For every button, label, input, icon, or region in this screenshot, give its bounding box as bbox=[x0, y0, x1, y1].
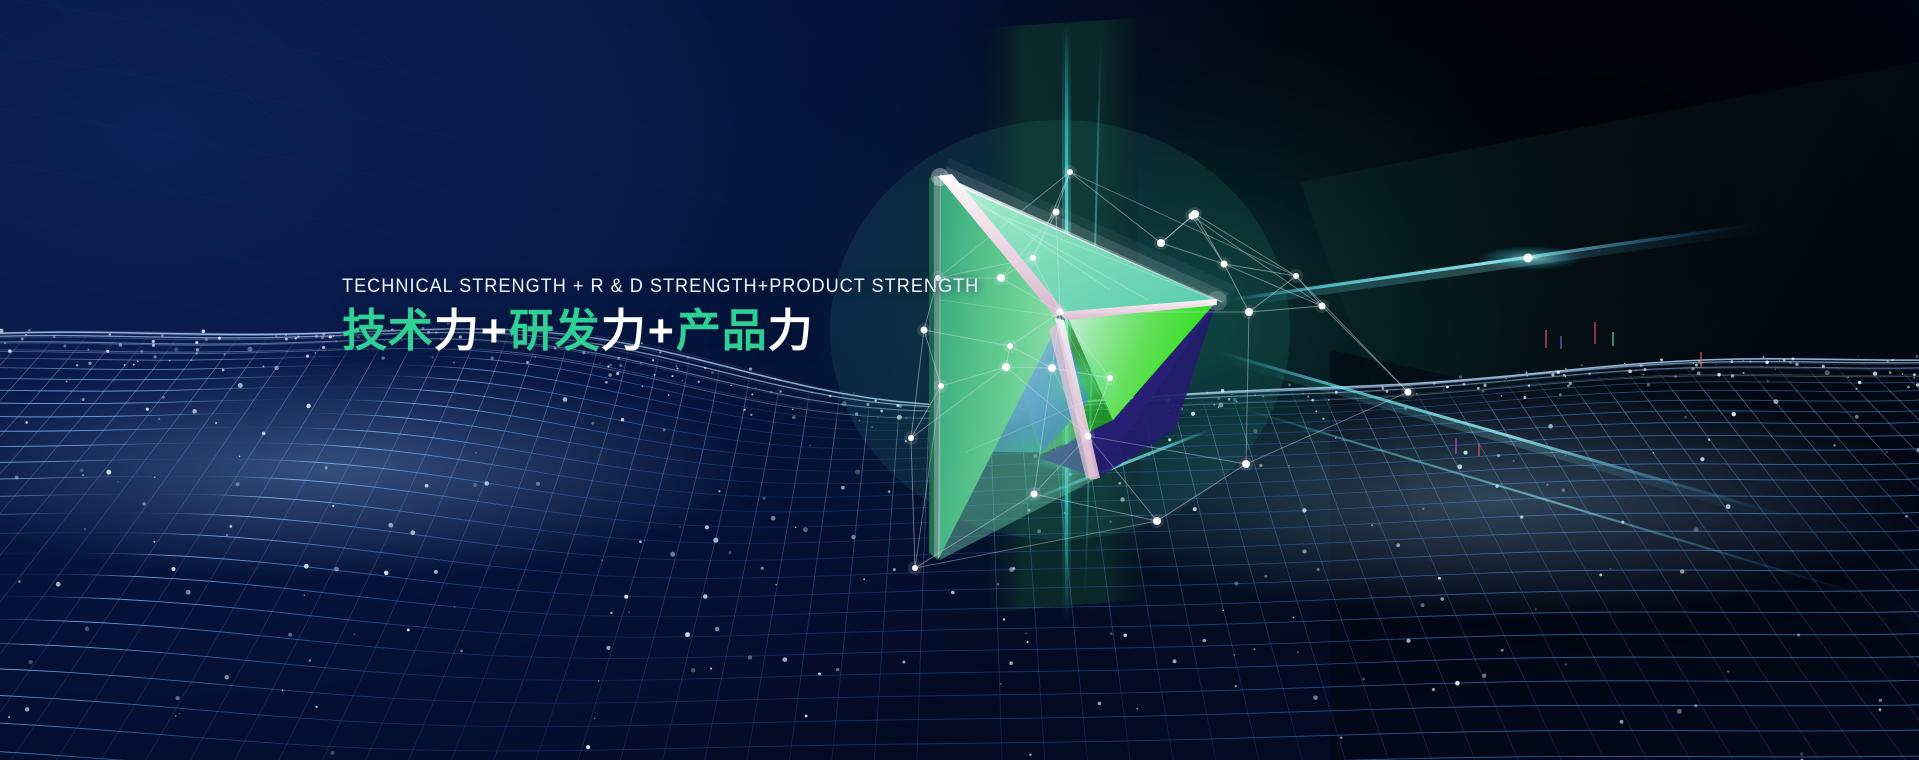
constellation-node bbox=[1319, 303, 1326, 310]
headline-cn-segment-6: 产品 bbox=[676, 305, 768, 356]
constellation-line bbox=[1192, 216, 1224, 264]
headline-cn-segment-7: 力 bbox=[768, 305, 814, 356]
constellation-line bbox=[1034, 368, 1052, 494]
constellation-node bbox=[1157, 239, 1165, 247]
constellation-node bbox=[1067, 169, 1073, 175]
constellation-line bbox=[915, 386, 941, 568]
constellation-line bbox=[911, 367, 1006, 438]
constellation-line bbox=[1249, 306, 1322, 312]
constellation-line bbox=[1249, 276, 1296, 312]
constellation-node bbox=[1189, 213, 1196, 220]
constellation-line bbox=[1246, 392, 1408, 464]
headline-cn-segment-1: 力 bbox=[434, 305, 480, 356]
constellation-line bbox=[1006, 367, 1088, 436]
constellation-line bbox=[1161, 243, 1224, 264]
headline-cn-segment-3: 研发 bbox=[509, 305, 601, 356]
headline-cn-segment-5: + bbox=[648, 305, 675, 356]
hero-banner: TECHNICAL STRENGTH + R & D STRENGTH+PROD… bbox=[0, 0, 1919, 760]
constellation-line bbox=[1088, 436, 1246, 464]
headline-cn-segment-2: + bbox=[481, 305, 508, 356]
headline-english: TECHNICAL STRENGTH + R & D STRENGTH+PROD… bbox=[342, 276, 1049, 297]
constellation-node bbox=[1221, 261, 1228, 268]
constellation-line bbox=[941, 367, 1006, 386]
constellation-node bbox=[1242, 460, 1250, 468]
constellation-line bbox=[915, 521, 1157, 568]
constellation-node bbox=[938, 383, 944, 389]
constellation-line bbox=[1034, 436, 1088, 494]
constellation-line bbox=[1246, 312, 1249, 464]
headline-cn-segment-0: 技术 bbox=[342, 305, 434, 356]
constellation-node bbox=[912, 565, 918, 571]
constellation-wireframe-front bbox=[0, 0, 1919, 760]
constellation-node bbox=[1245, 308, 1253, 316]
constellation-line bbox=[1192, 216, 1322, 306]
constellation-node bbox=[1293, 273, 1299, 279]
constellation-line bbox=[1157, 464, 1246, 521]
headline-chinese: 技术力+研发力+产品力 bbox=[342, 306, 1102, 356]
constellation-line bbox=[911, 438, 915, 568]
constellation-line bbox=[1088, 378, 1110, 436]
constellation-node bbox=[1405, 389, 1412, 396]
constellation-node bbox=[1002, 363, 1010, 371]
constellation-node bbox=[1085, 433, 1092, 440]
constellation-line bbox=[1224, 264, 1296, 276]
constellation-node bbox=[1153, 517, 1161, 525]
constellation-line bbox=[911, 386, 941, 438]
constellation-line bbox=[1052, 368, 1110, 378]
headline-cn-segment-4: 力 bbox=[601, 305, 647, 356]
constellation-line bbox=[1195, 214, 1296, 276]
constellation-node bbox=[1031, 491, 1038, 498]
constellation-node bbox=[1107, 375, 1113, 381]
headline-block: TECHNICAL STRENGTH + R & D STRENGTH+PROD… bbox=[342, 276, 1102, 357]
constellation-node bbox=[1048, 364, 1056, 372]
constellation-line bbox=[1296, 276, 1408, 392]
constellation-line bbox=[1052, 368, 1088, 436]
constellation-node bbox=[1053, 209, 1060, 216]
constellation-line bbox=[1224, 264, 1322, 306]
constellation-node bbox=[1030, 255, 1036, 261]
constellation-line bbox=[1224, 264, 1249, 312]
constellation-node bbox=[908, 435, 914, 441]
constellation-line bbox=[1001, 212, 1056, 278]
constellation-line bbox=[938, 172, 1070, 278]
constellation-line bbox=[1070, 172, 1296, 276]
